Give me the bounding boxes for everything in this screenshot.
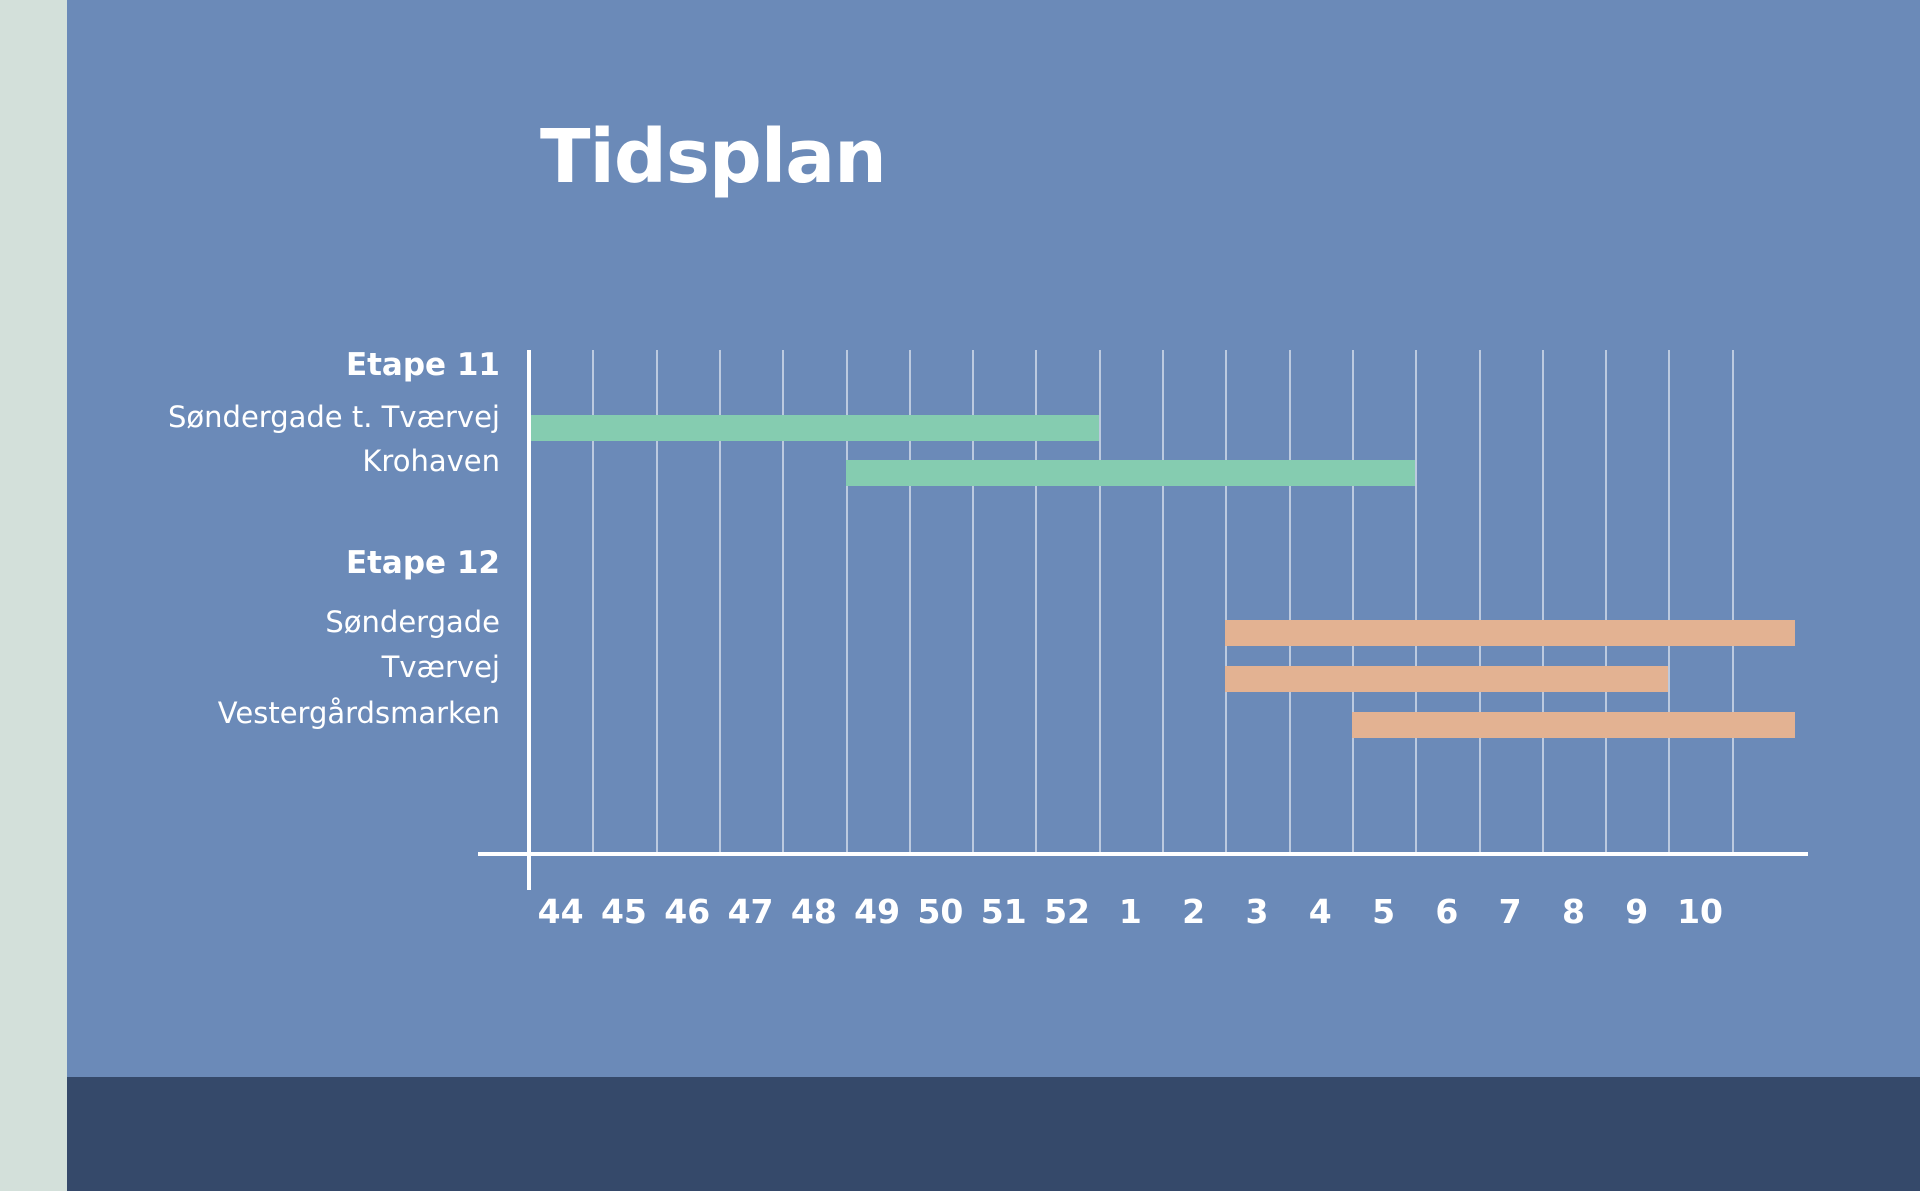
- group-title-etape-12: Etape 12: [346, 548, 500, 579]
- x-tick-label-52: 52: [1044, 895, 1090, 928]
- gantt-bar: [529, 415, 1099, 441]
- x-tick-label-51: 51: [981, 895, 1027, 928]
- slide-canvas: Tidsplan Etape 11 Søndergade t. Tværvej …: [0, 0, 1920, 1191]
- gridline-vertical: [1479, 350, 1481, 854]
- footer-band: [67, 1077, 1920, 1191]
- gridline-vertical: [1225, 350, 1227, 854]
- x-tick-label-50: 50: [917, 895, 963, 928]
- gantt-chart: Etape 11 Søndergade t. Tværvej Krohaven …: [0, 0, 1920, 1000]
- x-axis-line: [478, 852, 1808, 856]
- x-tick-label-3: 3: [1245, 895, 1268, 928]
- row-label-sondergade: Søndergade: [325, 608, 500, 637]
- gantt-bar: [1352, 712, 1795, 738]
- plot-area: [529, 350, 1809, 854]
- gantt-bar: [846, 460, 1416, 486]
- x-tick-label-10: 10: [1677, 895, 1723, 928]
- x-tick-label-46: 46: [664, 895, 710, 928]
- gridline-vertical: [1352, 350, 1354, 854]
- x-tick-label-9: 9: [1625, 895, 1648, 928]
- x-tick-label-4: 4: [1309, 895, 1332, 928]
- x-tick-label-47: 47: [728, 895, 774, 928]
- row-label-tvaervej: Tværvej: [382, 653, 500, 682]
- gridline-vertical: [1099, 350, 1101, 854]
- x-tick-label-8: 8: [1562, 895, 1585, 928]
- x-axis-tick-labels: 44454647484950515212345678910: [529, 895, 1809, 945]
- gridline-vertical: [1542, 350, 1544, 854]
- gridline-vertical: [1732, 350, 1734, 854]
- row-label-vestergaardsmarken: Vestergårdsmarken: [218, 699, 500, 728]
- gridline-vertical: [1668, 350, 1670, 854]
- gridline-vertical: [1162, 350, 1164, 854]
- x-tick-label-49: 49: [854, 895, 900, 928]
- x-tick-label-48: 48: [791, 895, 837, 928]
- row-label-sondergade-t-tvaervej: Søndergade t. Tværvej: [168, 403, 500, 432]
- x-tick-label-6: 6: [1435, 895, 1458, 928]
- gridline-vertical: [1605, 350, 1607, 854]
- gridline-vertical: [1289, 350, 1291, 854]
- row-label-krohaven: Krohaven: [362, 447, 500, 476]
- x-tick-label-44: 44: [538, 895, 584, 928]
- x-tick-label-45: 45: [601, 895, 647, 928]
- x-tick-label-2: 2: [1182, 895, 1205, 928]
- gantt-bar: [1225, 666, 1668, 692]
- group-title-etape-11: Etape 11: [346, 350, 500, 381]
- y-axis-line: [527, 350, 531, 890]
- gridline-vertical: [1415, 350, 1417, 854]
- x-tick-label-1: 1: [1119, 895, 1142, 928]
- row-label-column: Etape 11 Søndergade t. Tværvej Krohaven …: [100, 350, 500, 855]
- x-tick-label-7: 7: [1499, 895, 1522, 928]
- gantt-bar: [1225, 620, 1795, 646]
- x-tick-label-5: 5: [1372, 895, 1395, 928]
